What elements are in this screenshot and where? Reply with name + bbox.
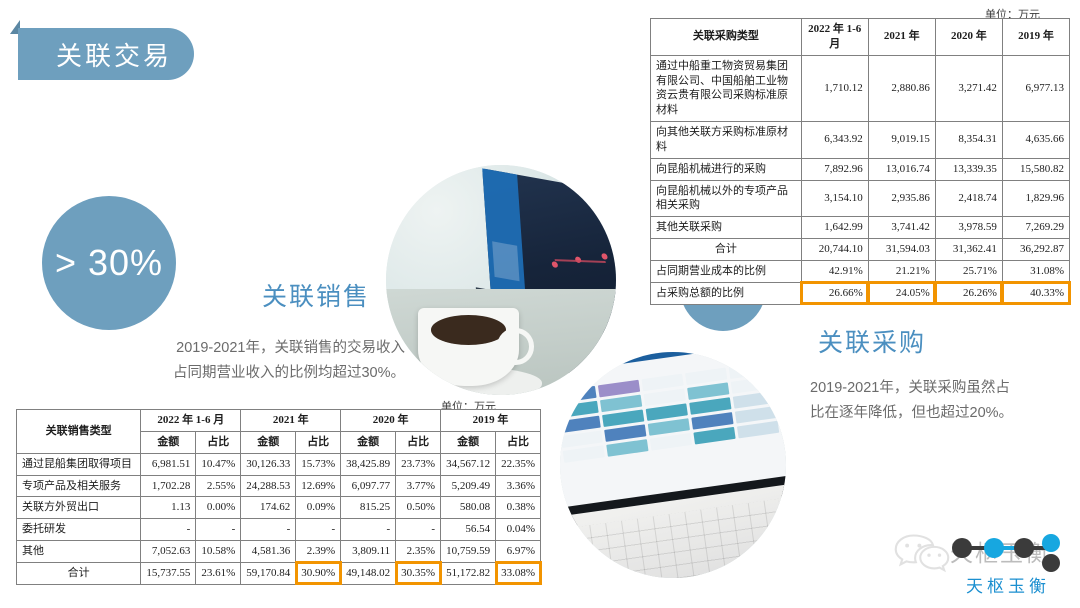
row-value: 1,829.96 <box>1002 180 1069 217</box>
purchase-col-header: 2022 年 1-6 月 <box>801 19 868 56</box>
row-value: 22.35% <box>496 453 541 475</box>
row-value: 15,580.82 <box>1002 158 1069 180</box>
row-value: 4,635.66 <box>1002 122 1069 159</box>
row-value: 59,170.84 <box>241 562 296 584</box>
sales-metric-header: 金额 <box>341 431 396 453</box>
row-value: 15.73% <box>296 453 341 475</box>
row-label: 专项产品及相关服务 <box>17 475 141 497</box>
row-label: 向其他关联方采购标准原材料 <box>651 122 802 159</box>
row-value: 24.05% <box>868 282 935 304</box>
row-value: 40.33% <box>1002 282 1069 304</box>
sales-table-body: 通过昆船集团取得项目6,981.5110.47%30,126.3315.73%3… <box>17 453 541 584</box>
row-value: - <box>196 519 241 541</box>
row-value: 20,744.10 <box>801 239 868 261</box>
sales-metric-header: 金额 <box>141 431 196 453</box>
row-value: - <box>341 519 396 541</box>
table-row: 通过中船重工物资贸易集团有限公司、中国船舶工业物资云贵有限公司采购标准原材料1,… <box>651 55 1070 121</box>
row-value: 6,097.77 <box>341 475 396 497</box>
row-value: 0.04% <box>496 519 541 541</box>
row-value: - <box>296 519 341 541</box>
table-header-row-periods: 关联销售类型2022 年 1-6 月2021 年2020 年2019 年 <box>17 410 541 432</box>
row-value: 2,880.86 <box>868 55 935 121</box>
purchase-col-header: 2020 年 <box>935 19 1002 56</box>
row-value: 2.35% <box>396 541 441 563</box>
sales-row-header: 关联销售类型 <box>17 410 141 454</box>
row-value: 7,892.96 <box>801 158 868 180</box>
total-row: 合计20,744.1031,594.0331,362.4136,292.87 <box>651 239 1070 261</box>
logo-dot <box>952 538 972 558</box>
coffee-cup <box>418 308 519 386</box>
row-value: 36,292.87 <box>1002 239 1069 261</box>
screen-data-line <box>555 260 606 264</box>
row-value: 30.90% <box>296 562 341 584</box>
purchase-col-header: 关联采购类型 <box>651 19 802 56</box>
row-label: 通过中船重工物资贸易集团有限公司、中国船舶工业物资云贵有限公司采购标准原材料 <box>651 55 802 121</box>
row-value: 6,977.13 <box>1002 55 1069 121</box>
row-value: 0.09% <box>296 497 341 519</box>
row-value: 8,354.31 <box>935 122 1002 159</box>
sales-metric-header: 占比 <box>196 431 241 453</box>
logo-dot-cyan <box>1042 534 1060 552</box>
purchase-table: 关联采购类型2022 年 1-6 月2021 年2020 年2019 年 通过中… <box>650 18 1070 305</box>
row-value: 174.62 <box>241 497 296 519</box>
sales-metric-header: 金额 <box>241 431 296 453</box>
row-label: 合计 <box>17 562 141 584</box>
table-row: 其他7,052.6310.58%4,581.362.39%3,809.112.3… <box>17 541 541 563</box>
row-value: 2.55% <box>196 475 241 497</box>
row-value: 3.36% <box>496 475 541 497</box>
row-value: 7,052.63 <box>141 541 196 563</box>
row-value: 33.08% <box>496 562 541 584</box>
table-row: 关联方外贸出口1.130.00%174.620.09%815.250.50%58… <box>17 497 541 519</box>
row-value: 26.66% <box>801 282 868 304</box>
screen-data-dot <box>552 261 558 268</box>
row-value: 1,642.99 <box>801 217 868 239</box>
row-value: 31,362.41 <box>935 239 1002 261</box>
sales-section-heading: 关联销售 <box>262 277 370 313</box>
row-label: 关联方外贸出口 <box>17 497 141 519</box>
row-value: 3.77% <box>396 475 441 497</box>
sales-metric-header: 占比 <box>496 431 541 453</box>
row-value: 15,737.55 <box>141 562 196 584</box>
row-value: 24,288.53 <box>241 475 296 497</box>
row-value: 2.39% <box>296 541 341 563</box>
row-value: - <box>241 519 296 541</box>
row-value: 3,271.42 <box>935 55 1002 121</box>
row-value: 10.47% <box>196 453 241 475</box>
row-value: 23.61% <box>196 562 241 584</box>
row-value: 13,339.35 <box>935 158 1002 180</box>
sales-metric-header: 占比 <box>296 431 341 453</box>
ratio-row: 占采购总额的比例26.66%24.05%26.26%40.33% <box>651 282 1070 304</box>
slide-title-banner: 关联交易 <box>18 28 194 80</box>
row-value: 1.13 <box>141 497 196 519</box>
page-title: 关联交易 <box>40 36 172 73</box>
table-row: 其他关联采购1,642.993,741.423,978.597,269.29 <box>651 217 1070 239</box>
row-value: 0.38% <box>496 497 541 519</box>
row-value: 56.54 <box>441 519 496 541</box>
row-value: - <box>396 519 441 541</box>
row-value: 25.71% <box>935 260 1002 282</box>
sales-period-header: 2019 年 <box>441 410 541 432</box>
wechat-icon <box>894 532 950 574</box>
row-value: 9,019.15 <box>868 122 935 159</box>
row-label: 其他 <box>17 541 141 563</box>
row-value: 49,148.02 <box>341 562 396 584</box>
row-value: 23.73% <box>396 453 441 475</box>
row-value: 51,172.82 <box>441 562 496 584</box>
table-row: 专项产品及相关服务1,702.282.55%24,288.5312.69%6,0… <box>17 475 541 497</box>
purchase-section-paragraph: 2019-2021年，关联采购虽然占 比在逐年降低，但也超过20%。 <box>810 376 1072 426</box>
sales-table-head: 关联销售类型2022 年 1-6 月2021 年2020 年2019 年 金额占… <box>17 410 541 454</box>
purchase-table-body: 通过中船重工物资贸易集团有限公司、中国船舶工业物资云贵有限公司采购标准原材料1,… <box>651 55 1070 304</box>
watermark: 天枢玉衡 天枢玉衡 <box>890 520 1070 602</box>
row-value: 10,759.59 <box>441 541 496 563</box>
ratio-row: 占同期营业成本的比例42.91%21.21%25.71%31.08% <box>651 260 1070 282</box>
row-label: 向昆船机械以外的专项产品相关采购 <box>651 180 802 217</box>
row-value: 31,594.03 <box>868 239 935 261</box>
sales-metric-header: 占比 <box>396 431 441 453</box>
row-value: 1,702.28 <box>141 475 196 497</box>
row-label: 向昆船机械进行的采购 <box>651 158 802 180</box>
logo-dot-cyan <box>984 538 1004 558</box>
row-label: 其他关联采购 <box>651 217 802 239</box>
sales-table: 关联销售类型2022 年 1-6 月2021 年2020 年2019 年 金额占… <box>16 409 541 585</box>
row-value: 4,581.36 <box>241 541 296 563</box>
row-value: 13,016.74 <box>868 158 935 180</box>
watermark-brand-text: 天枢玉衡 <box>966 572 1050 597</box>
row-label: 委托研发 <box>17 519 141 541</box>
row-value: 1,710.12 <box>801 55 868 121</box>
row-value: 42.91% <box>801 260 868 282</box>
row-value: 7,269.29 <box>1002 217 1069 239</box>
sales-period-header: 2020 年 <box>341 410 441 432</box>
sales-period-header: 2021 年 <box>241 410 341 432</box>
row-value: 6,343.92 <box>801 122 868 159</box>
constellation-logo <box>950 528 1070 568</box>
purchase-section-heading: 关联采购 <box>818 323 926 359</box>
table-row: 通过昆船集团取得项目6,981.5110.47%30,126.3315.73%3… <box>17 453 541 475</box>
row-value: 6,981.51 <box>141 453 196 475</box>
row-label: 占采购总额的比例 <box>651 282 802 304</box>
purchase-table-head: 关联采购类型2022 年 1-6 月2021 年2020 年2019 年 <box>651 19 1070 56</box>
sales-section-paragraph: 2019-2021年，关联销售的交易收入 占同期营业收入的比例均超过30%。 <box>130 336 405 386</box>
row-value: 0.50% <box>396 497 441 519</box>
row-value: 3,741.42 <box>868 217 935 239</box>
logo-dot <box>1014 538 1034 558</box>
row-label: 占同期营业成本的比例 <box>651 260 802 282</box>
row-value: 26.26% <box>935 282 1002 304</box>
sales-metric-header: 金额 <box>441 431 496 453</box>
row-value: 31.08% <box>1002 260 1069 282</box>
row-value: 38,425.89 <box>341 453 396 475</box>
table-row: 向昆船机械以外的专项产品相关采购3,154.102,935.862,418.74… <box>651 180 1070 217</box>
purchase-col-header: 2019 年 <box>1002 19 1069 56</box>
row-value: 6.97% <box>496 541 541 563</box>
row-value: 30.35% <box>396 562 441 584</box>
row-value: 34,567.12 <box>441 453 496 475</box>
row-value: - <box>141 519 196 541</box>
logo-dot <box>1042 554 1060 572</box>
table-row: 向其他关联方采购标准原材料6,343.929,019.158,354.314,6… <box>651 122 1070 159</box>
row-label: 合计 <box>651 239 802 261</box>
row-value: 815.25 <box>341 497 396 519</box>
row-value: 3,154.10 <box>801 180 868 217</box>
row-value: 30,126.33 <box>241 453 296 475</box>
table-header-row: 关联采购类型2022 年 1-6 月2021 年2020 年2019 年 <box>651 19 1070 56</box>
row-value: 2,418.74 <box>935 180 1002 217</box>
row-value: 5,209.49 <box>441 475 496 497</box>
row-value: 10.58% <box>196 541 241 563</box>
row-value: 12.69% <box>296 475 341 497</box>
screen-data-dot <box>602 253 608 260</box>
row-value: 2,935.86 <box>868 180 935 217</box>
sales-period-header: 2022 年 1-6 月 <box>141 410 241 432</box>
sales-percent-badge: > 30% <box>42 196 176 330</box>
laptop-calendar-photo <box>560 352 786 578</box>
banner-pill: 关联交易 <box>18 28 194 80</box>
purchase-col-header: 2021 年 <box>868 19 935 56</box>
row-value: 21.21% <box>868 260 935 282</box>
row-value: 580.08 <box>441 497 496 519</box>
row-value: 3,978.59 <box>935 217 1002 239</box>
row-value: 0.00% <box>196 497 241 519</box>
total-row: 合计15,737.5523.61%59,170.8430.90%49,148.0… <box>17 562 541 584</box>
row-value: 3,809.11 <box>341 541 396 563</box>
table-row: 委托研发------56.540.04% <box>17 519 541 541</box>
row-label: 通过昆船集团取得项目 <box>17 453 141 475</box>
table-row: 向昆船机械进行的采购7,892.9613,016.7413,339.3515,5… <box>651 158 1070 180</box>
